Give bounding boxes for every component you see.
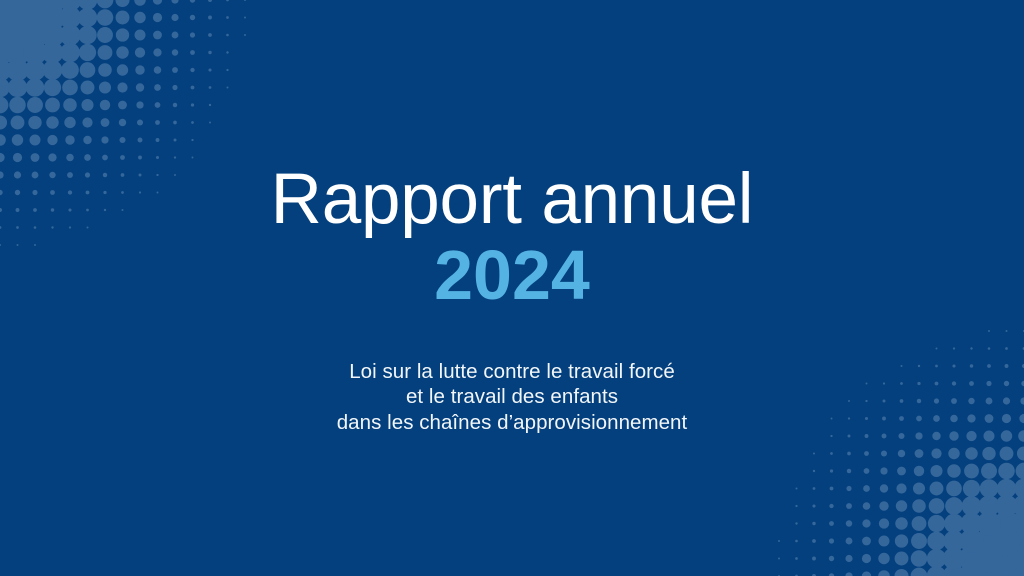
title-main-text: Rapport annuel bbox=[271, 164, 754, 236]
subtitle: Loi sur la lutte contre le travail forcé… bbox=[337, 359, 688, 436]
cover-content: Rapport annuel 2024 Loi sur la lutte con… bbox=[0, 0, 1024, 576]
subtitle-line-3: dans les chaînes d’approvisionnement bbox=[337, 410, 688, 436]
title-year-text: 2024 bbox=[271, 236, 754, 314]
subtitle-line-2: et le travail des enfants bbox=[337, 384, 688, 410]
report-cover-slide: Rapport annuel 2024 Loi sur la lutte con… bbox=[0, 0, 1024, 576]
subtitle-line-1: Loi sur la lutte contre le travail forcé bbox=[337, 359, 688, 385]
page-title: Rapport annuel 2024 bbox=[271, 164, 754, 315]
